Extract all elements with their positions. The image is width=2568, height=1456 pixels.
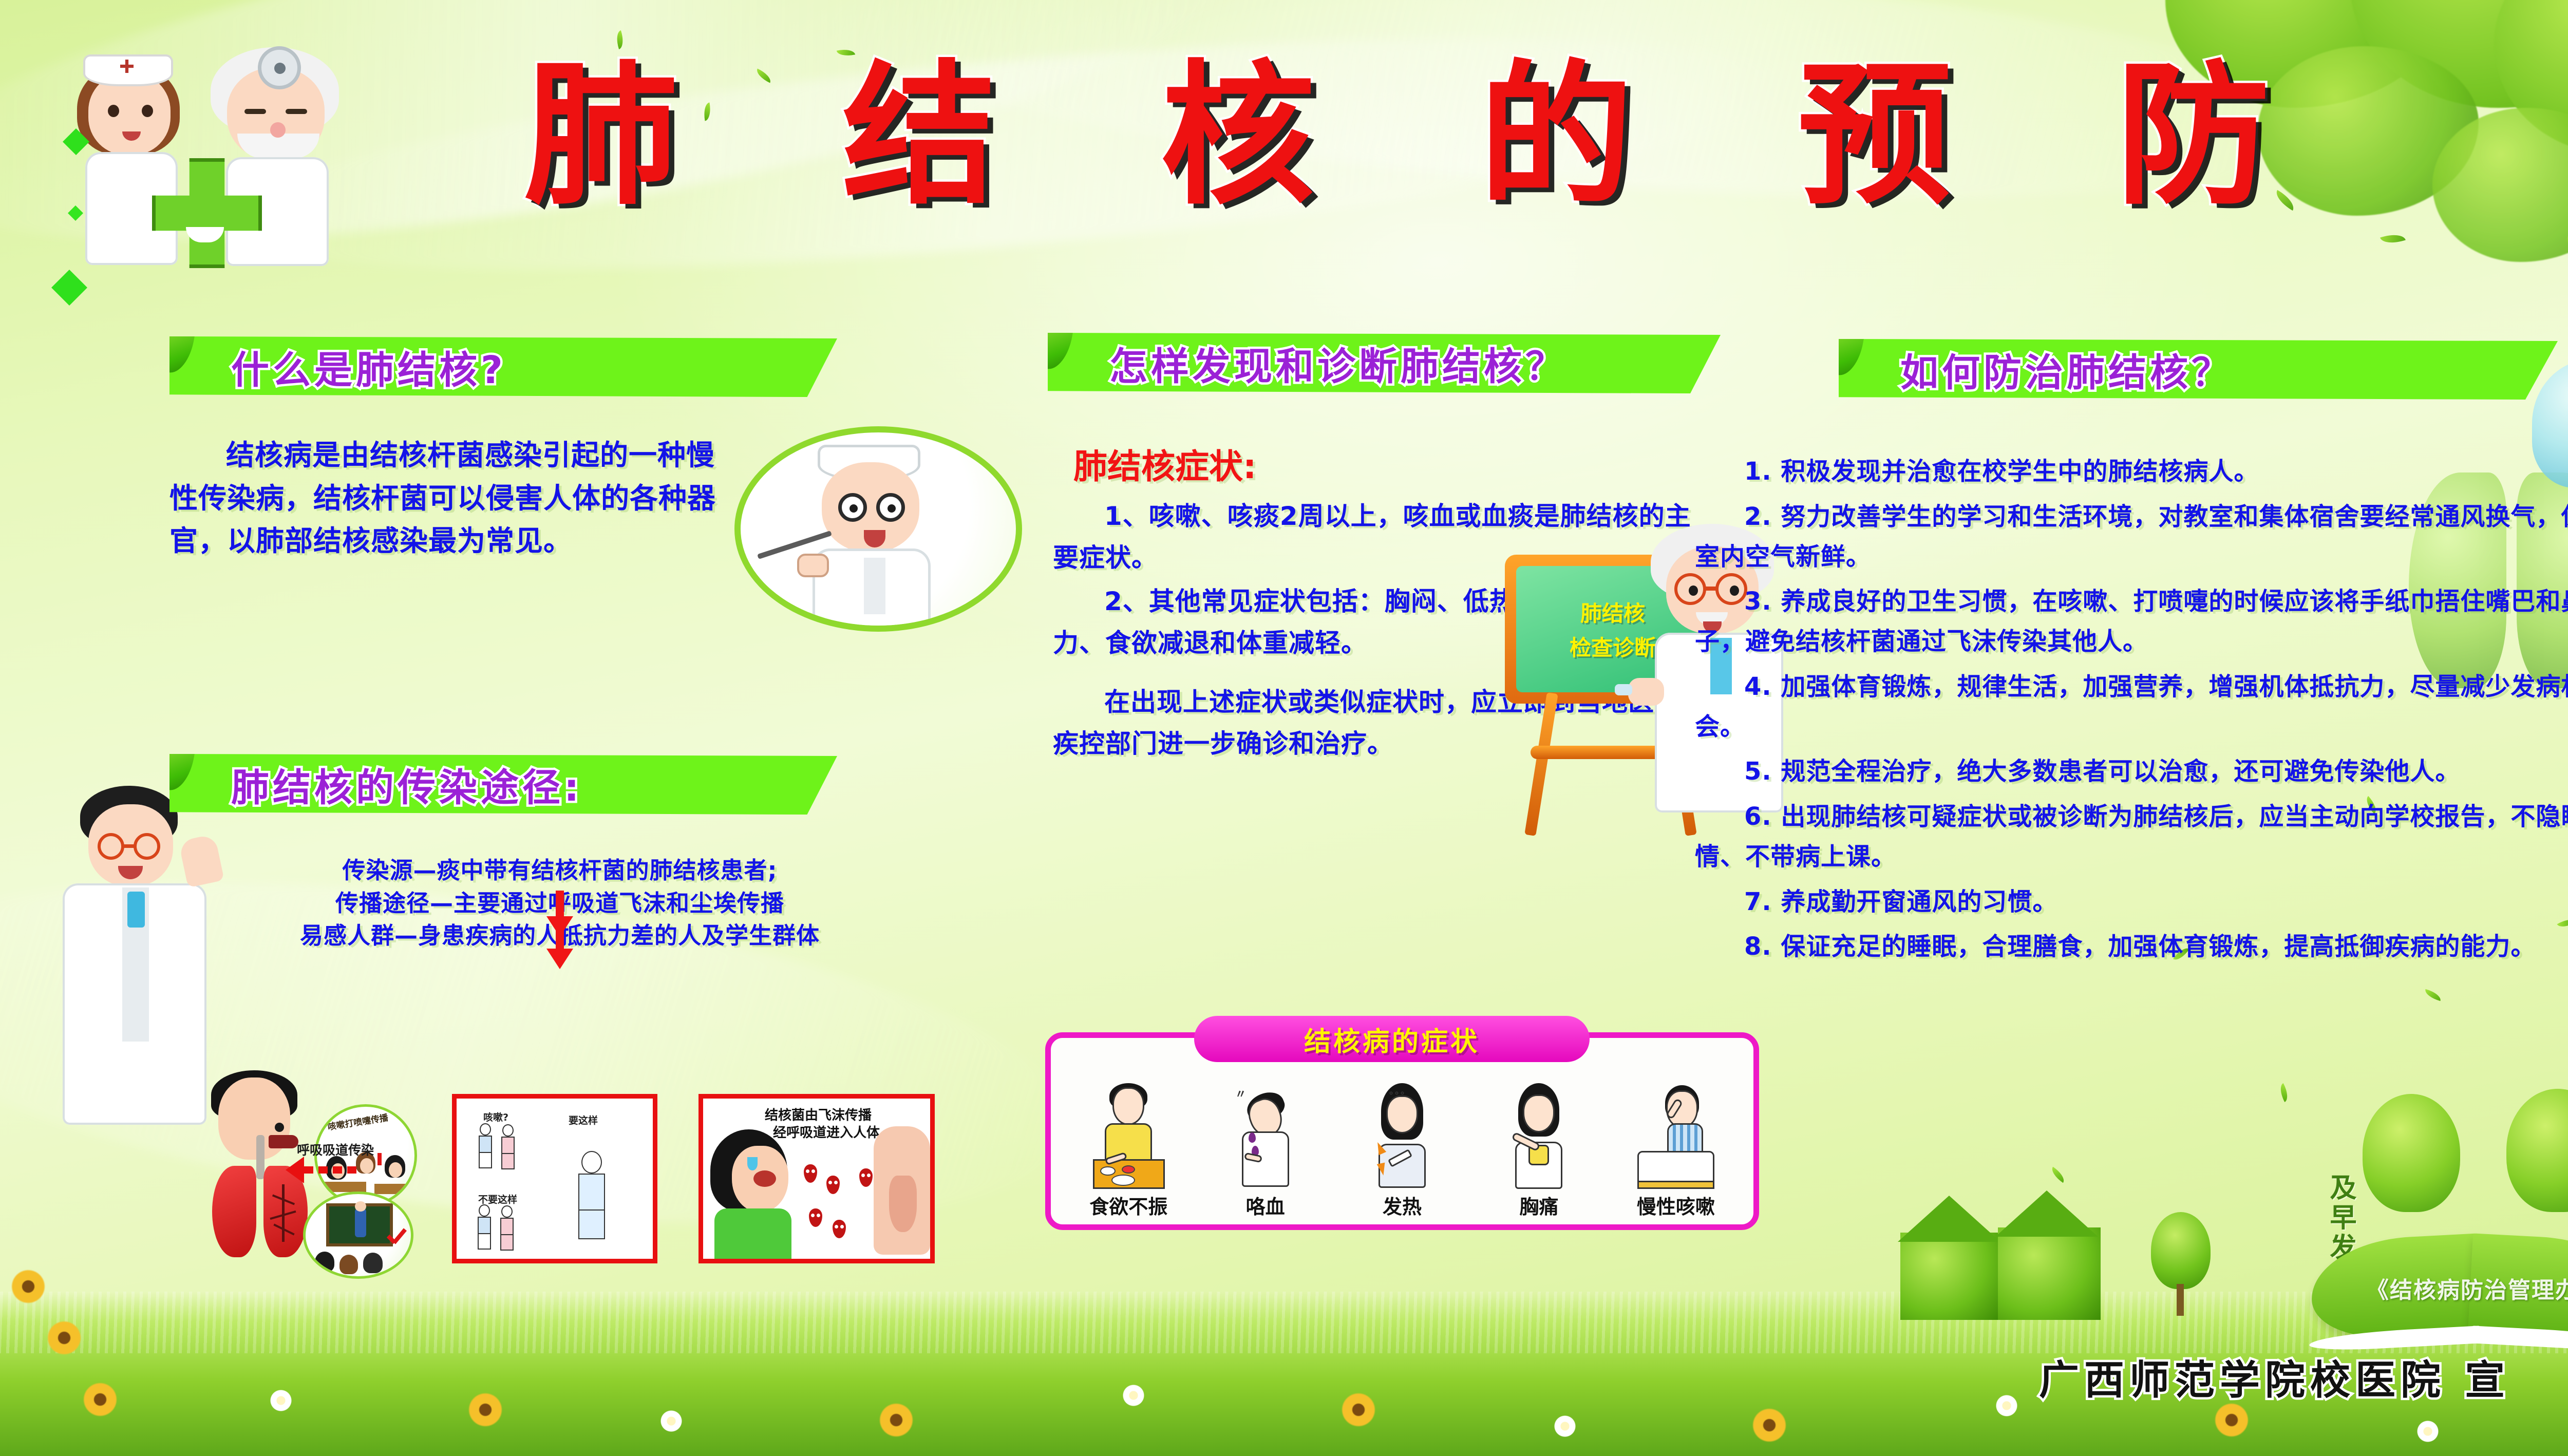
prevention-item: 3. 养成良好的卫生习惯，在咳嗽、打喷嚏的时候应该将手纸巾捂住嘴巴和鼻子，避免结… xyxy=(1695,582,2568,662)
prevention-item: 1. 积极发现并治愈在校学生中的肺结核病人。 xyxy=(1695,452,2568,492)
daisy-decoration xyxy=(267,1387,295,1414)
daisy-decoration xyxy=(1551,1412,1579,1440)
symptom-panel-title: 结核病的症状 xyxy=(1194,1016,1590,1062)
chest-pain-figure xyxy=(1500,1082,1577,1189)
page-title: 肺 结 核 的 预 防 xyxy=(524,49,2270,223)
clover-icon xyxy=(51,270,87,306)
clover-icon xyxy=(68,205,83,221)
symptom-heading: 肺结核症状: xyxy=(1073,439,1256,488)
sunflower-decoration xyxy=(873,1397,919,1443)
bacteria-icon xyxy=(833,1220,846,1238)
symptom-label: 发热 xyxy=(1383,1191,1422,1219)
flying-leaf xyxy=(2424,989,2443,1001)
symptom-item: 〃 咯血 xyxy=(1197,1078,1333,1219)
title-char: 肺 xyxy=(524,59,678,213)
title-char: 的 xyxy=(1479,59,1633,213)
hedge-house-decoration xyxy=(1998,1227,2101,1320)
title-char: 核 xyxy=(1161,59,1315,213)
prevention-item: 4. 加强体育锻炼，规律生活，加强营养，增强机体抵抗力，尽量减少发病机会。 xyxy=(1695,667,2568,747)
classroom-lecture-illustration xyxy=(303,1192,413,1279)
daisy-decoration xyxy=(657,1407,685,1435)
chronic-cough-figure xyxy=(1637,1082,1714,1189)
prevention-item: 8. 保证充足的睡眠，合理膳食，加强体育锻炼，提高抵御疾病的能力。 xyxy=(1695,927,2568,967)
banner-label: 怎样发现和诊断肺结核？ xyxy=(1048,336,1567,391)
route-step: 传染源—痰中带有结核杆菌的肺结核患者; xyxy=(195,858,924,883)
cough-question-caption: 咳嗽? xyxy=(483,1110,508,1124)
symptom-label: 食欲不振 xyxy=(1089,1191,1167,1219)
sunflower-decoration xyxy=(1335,1387,1382,1433)
droplet-caption-line1: 结核菌由飞沫传播 xyxy=(765,1105,872,1124)
flying-leaf xyxy=(2276,1083,2291,1102)
hot-air-balloon-decoration xyxy=(2532,360,2568,534)
prevention-item: 5. 规范全程治疗，绝大多数患者可以治愈，还可避免传染他人。 xyxy=(1695,752,2568,792)
section-banner-transmission: 肺结核的传染途径: xyxy=(169,754,837,815)
banner-label: 肺结核的传染途径: xyxy=(169,757,583,812)
symptom-item: ˳˳˳ 发热 xyxy=(1334,1078,1470,1219)
droplet-transmission-panel: 结核菌由飞沫传播 经呼吸道进入人体 xyxy=(698,1094,935,1263)
droplet-caption-line2: 经呼吸道进入人体 xyxy=(773,1122,880,1141)
symptom-label: 胸痛 xyxy=(1519,1191,1558,1219)
open-book-illustration: 《结核病防治管理办法》 xyxy=(2301,1171,2568,1356)
section-banner-prevention: 如何防治肺结核？ xyxy=(1839,339,2558,400)
prevention-item: 6. 出现肺结核可疑症状或被诊断为肺结核后，应当主动向学校报告，不隐瞒病情、不带… xyxy=(1695,797,2568,877)
symptom-title-label: 结核病的症状 xyxy=(1304,1020,1480,1058)
appetite-loss-figure xyxy=(1090,1082,1167,1189)
prevention-measures-list: 1. 积极发现并治愈在校学生中的肺结核病人。 2. 努力改善学生的学习和生活环境… xyxy=(1695,452,2568,972)
bacteria-icon xyxy=(826,1176,840,1194)
bacteria-icon xyxy=(859,1168,873,1187)
symptom-item: 慢性咳嗽 xyxy=(1608,1078,1744,1219)
title-char: 结 xyxy=(842,59,996,213)
sunflower-decoration xyxy=(41,1315,87,1361)
prevention-item: 7. 养成勤开窗通风的习惯。 xyxy=(1695,882,2568,922)
hemoptysis-figure: 〃 xyxy=(1227,1082,1304,1189)
arrow-left-icon xyxy=(286,1157,363,1183)
bacteria-icon xyxy=(809,1208,822,1227)
book-title-label: 《结核病防治管理办法》 xyxy=(2352,1272,2568,1304)
symptom-item: 食欲不振 xyxy=(1060,1078,1197,1219)
nurse-and-doctor-mascot xyxy=(56,36,344,277)
daisy-decoration xyxy=(1120,1382,1147,1409)
title-char: 防 xyxy=(2116,59,2270,213)
daisy-decoration xyxy=(1993,1392,2021,1420)
flying-leaf xyxy=(2049,1167,2068,1183)
banner-label: 什么是肺结核? xyxy=(169,339,506,394)
sunflower-decoration xyxy=(462,1387,508,1433)
symptom-item: 胸痛 xyxy=(1470,1078,1607,1219)
prevention-item: 2. 努力改善学生的学习和生活环境，对教室和集体宿舍要经常通风换气，保持室内空气… xyxy=(1695,497,2568,577)
banner-label: 如何防治肺结核？ xyxy=(1839,342,2233,397)
title-char: 预 xyxy=(1798,59,1952,213)
tb-definition-text: 结核病是由结核杆菌感染引起的一种慢性传染病，结核杆菌可以侵害人体的各种器官，以肺… xyxy=(169,434,729,563)
doctor-with-pointer-illustration xyxy=(734,426,1022,632)
sunflower-decoration xyxy=(77,1376,123,1423)
section-banner-diagnosis: 怎样发现和诊断肺结核？ xyxy=(1048,333,1721,393)
dont-do-this-caption: 不要这样 xyxy=(478,1192,517,1206)
cough-etiquette-panel: 咳嗽? 要这样 不要这样 xyxy=(452,1094,657,1263)
poster-canvas: 肺 结 核 的 预 防 什么是肺结核? 结核病是由结核杆菌感染引起的一种慢性传染… xyxy=(0,0,2568,1456)
hedge-house-decoration xyxy=(1900,1233,1998,1320)
transmission-route-flow: 传染源—痰中带有结核杆菌的肺结核患者; 传播途径—主要通过呼吸道飞沫和尘埃传播 … xyxy=(195,858,924,949)
sunflower-decoration xyxy=(5,1263,51,1310)
do-this-caption: 要这样 xyxy=(569,1113,598,1127)
organization-footer: 广西师范学院校医院 宣 xyxy=(2039,1348,2510,1406)
daisy-decoration xyxy=(2414,1417,2442,1445)
classroom-caption: 咳嗽打喷嚏传播 xyxy=(327,1110,389,1132)
sunflower-decoration xyxy=(1746,1402,1792,1448)
airway-label: 呼吸吸道传染 xyxy=(297,1140,374,1159)
bacteria-icon xyxy=(804,1164,817,1183)
chalkboard-line: 肺结核 xyxy=(1580,596,1645,628)
fever-figure: ˳˳˳ xyxy=(1364,1082,1441,1189)
tree-decoration xyxy=(2147,1212,2214,1315)
symptom-label: 咯血 xyxy=(1246,1191,1285,1219)
section-banner-what-is-tb: 什么是肺结核? xyxy=(169,336,837,397)
symptom-label: 慢性咳嗽 xyxy=(1637,1191,1715,1219)
